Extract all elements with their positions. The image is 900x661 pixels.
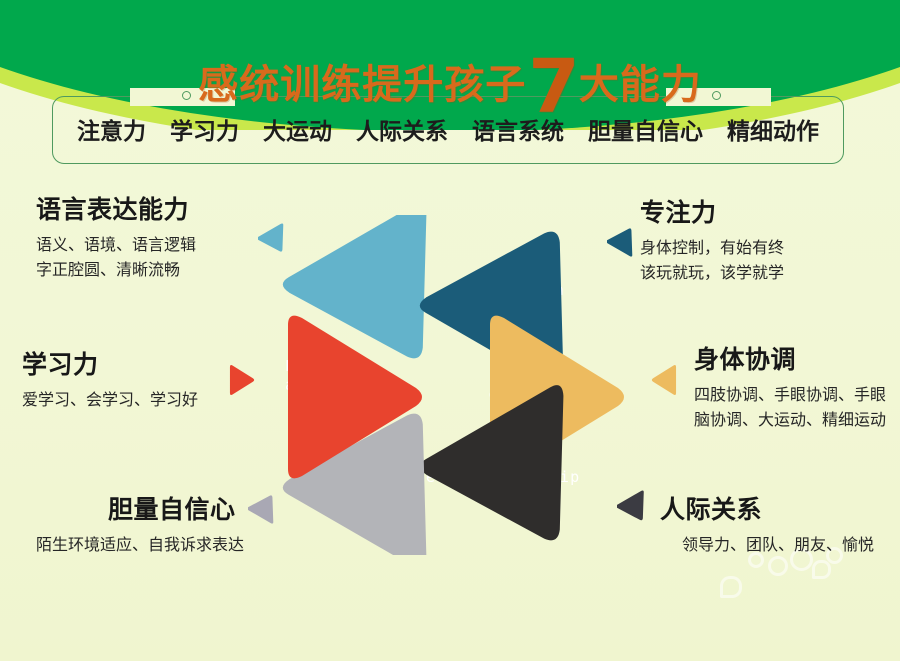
block-attention: 专注力 身体控制，有始有终 该玩就玩，该学就学 — [640, 193, 784, 286]
block-title: 专注力 — [640, 193, 784, 229]
marker-confidence-icon — [248, 490, 282, 524]
keyword-item: 大运动 — [263, 119, 332, 145]
marker-language-icon — [258, 223, 292, 257]
block-title: 学习力 — [22, 345, 198, 381]
block-line1: 陌生环境适应、自我诉求表达 — [36, 533, 244, 558]
block-physical: 身体协调 四肢协调、手眼协调、手眼 脑协调、大运动、精细运动 — [694, 340, 886, 433]
block-line2: 该玩就玩，该学就学 — [640, 261, 784, 286]
block-line1: 身体控制，有始有终 — [640, 236, 784, 261]
petal-diagram — [262, 215, 642, 555]
block-line1: 四肢协调、手眼协调、手眼 — [694, 383, 886, 408]
marker-learning-icon — [224, 363, 258, 397]
block-line1: 爱学习、会学习、学习好 — [22, 388, 198, 413]
block-language: 语言表达能力 语义、语境、语言逻辑 字正腔圆、清晰流畅 — [36, 190, 196, 283]
block-relationship: 人际关系 领导力、团队、朋友、愉悦 — [660, 490, 874, 558]
title-suffix: 大能力 — [579, 62, 702, 108]
block-line1: 领导力、团队、朋友、愉悦 — [682, 533, 874, 558]
keyword-item: 学习力 — [170, 119, 239, 145]
marker-attention-icon — [607, 223, 641, 257]
marker-relationship-icon — [617, 490, 653, 526]
title-prefix: 感统训练提升孩子 — [198, 62, 526, 108]
infographic-poster: 感统训练提升孩子7大能力 注意力 学习力 大运动 人际关系 语言系统 胆量自信心… — [0, 0, 900, 661]
block-line1: 语义、语境、语言逻辑 — [36, 233, 196, 258]
watermark-dot — [720, 576, 742, 598]
block-line2: 字正腔圆、清晰流畅 — [36, 258, 196, 283]
block-title: 人际关系 — [660, 490, 874, 526]
keyword-item: 精细动作 — [727, 119, 819, 145]
block-title: 身体协调 — [694, 340, 886, 376]
block-title: 语言表达能力 — [36, 190, 196, 226]
block-title: 胆量自信心 — [108, 490, 244, 526]
keyword-item: 注意力 — [77, 119, 146, 145]
keyword-item: 胆量自信心 — [588, 119, 703, 145]
watermark-dot — [812, 560, 831, 579]
block-learning: 学习力 爱学习、会学习、学习好 — [22, 345, 198, 413]
page-title: 感统训练提升孩子7大能力 — [0, 52, 900, 110]
marker-physical-icon — [648, 363, 682, 397]
watermark-dot — [768, 556, 788, 576]
block-line2: 脑协调、大运动、精细运动 — [694, 408, 886, 433]
block-confidence: 胆量自信心 陌生环境适应、自我诉求表达 — [36, 490, 244, 558]
keyword-item: 人际关系 — [356, 119, 448, 145]
keyword-list: 注意力 学习力 大运动 人际关系 语言系统 胆量自信心 精细动作 — [52, 112, 844, 146]
